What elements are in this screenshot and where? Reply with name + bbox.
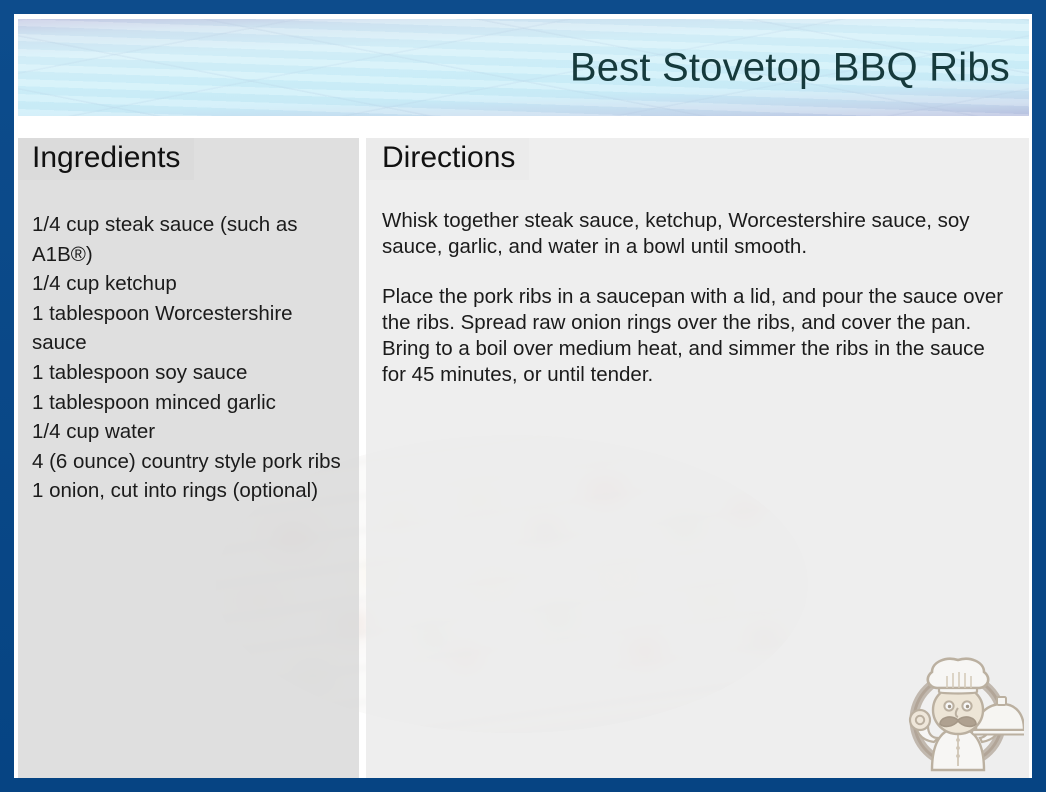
list-item: 1/4 cup ketchup [32, 269, 352, 299]
list-item: 1/4 cup water [32, 417, 352, 447]
list-item: 1/4 cup steak sauce (such as A1B®) [32, 210, 352, 269]
directions-body: Whisk together steak sauce, ketchup, Wor… [382, 208, 1012, 388]
list-item: 1 tablespoon minced garlic [32, 388, 352, 418]
slide-frame: Best Stovetop BBQ Ribs Ingredients 1/4 c… [0, 0, 1046, 792]
list-item: 1 tablespoon Worcestershire sauce [32, 299, 352, 358]
slide-canvas: Best Stovetop BBQ Ribs Ingredients 1/4 c… [14, 14, 1032, 778]
ingredients-list: 1/4 cup steak sauce (such as A1B®) 1/4 c… [32, 210, 352, 506]
ingredients-heading-tab: Ingredients [18, 138, 194, 180]
header-banner: Best Stovetop BBQ Ribs [18, 19, 1029, 116]
directions-heading: Directions [382, 143, 515, 173]
page-title: Best Stovetop BBQ Ribs [570, 45, 1010, 90]
list-item: 1 onion, cut into rings (optional) [32, 476, 352, 506]
chef-mascot-icon [892, 642, 1024, 774]
ingredients-heading: Ingredients [32, 143, 180, 173]
direction-step: Whisk together steak sauce, ketchup, Wor… [382, 208, 1012, 260]
ingredients-panel: Ingredients 1/4 cup steak sauce (such as… [18, 138, 359, 778]
list-item: 1 tablespoon soy sauce [32, 358, 352, 388]
list-item: 4 (6 ounce) country style pork ribs [32, 447, 352, 477]
direction-step: Place the pork ribs in a saucepan with a… [382, 284, 1012, 388]
directions-heading-tab: Directions [366, 138, 529, 180]
